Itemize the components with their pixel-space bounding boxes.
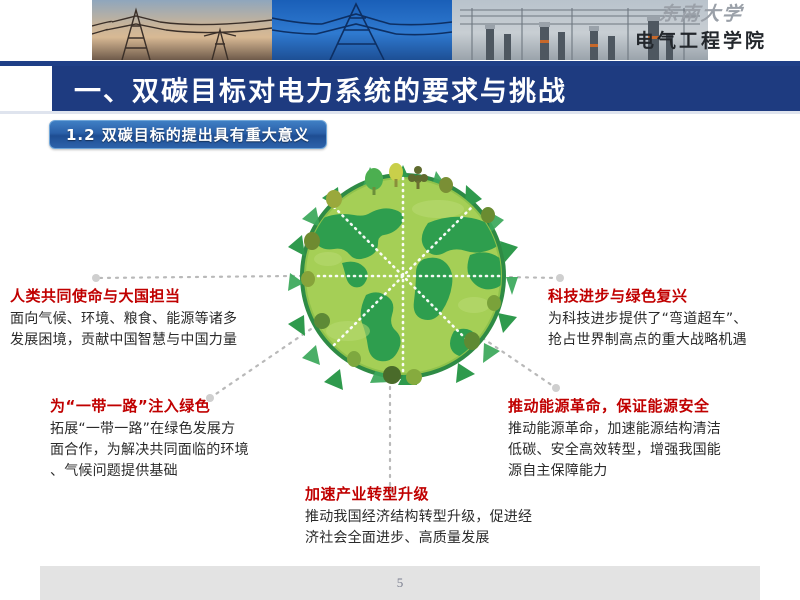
title-bottom-rule: [0, 111, 800, 114]
university-calligraphy-name: 东南大学: [615, 2, 788, 28]
callout-body: 面向气候、环境、粮食、能源等诸多 发展困境，贡献中国智慧与中国力量: [10, 309, 237, 351]
callout-line: 面合作，为解决共同面临的环境: [50, 440, 249, 461]
callout-heading: 科技进步与绿色复兴: [548, 286, 748, 307]
callout-line: 抢占世界制高点的重大战略机遇: [548, 330, 748, 351]
subsection-label: 1.2 双碳目标的提出具有重大意义: [66, 124, 310, 145]
callout-mission: 人类共同使命与大国担当 面向气候、环境、粮食、能源等诸多 发展困境，贡献中国智慧…: [10, 286, 237, 351]
slide: 东南大学 电气工程学院 一、双碳目标对电力系统的要求与挑战 1.2 双碳目标的提…: [0, 0, 800, 600]
callout-line: 为科技进步提供了“弯道超车”、: [548, 309, 748, 330]
callout-line: 面向气候、环境、粮食、能源等诸多: [10, 309, 237, 330]
callout-line: 低碳、安全高效转型，增强我国能: [508, 440, 721, 461]
page-number: 5: [40, 566, 760, 600]
callout-line: 源自主保障能力: [508, 461, 721, 482]
callout-body: 为科技进步提供了“弯道超车”、 抢占世界制高点的重大战略机遇: [548, 309, 748, 351]
callout-industry-upgrade: 加速产业转型升级 推动我国经济结构转型升级，促进经 济社会全面进步、高质量发展: [305, 484, 532, 549]
callout-line: 推动我国经济结构转型升级，促进经: [305, 507, 532, 528]
school-name: 电气工程学院: [616, 29, 786, 53]
callout-heading: 为“一带一路”注入绿色: [50, 396, 249, 417]
callout-energy-revolution: 推动能源革命，保证能源安全 推动能源革命，加速能源结构清洁 低碳、安全高效转型，…: [508, 396, 721, 482]
photo-transmission-tower-sunset: [92, 0, 272, 60]
callout-line: 、气候问题提供基础: [50, 461, 249, 482]
callout-heading: 加速产业转型升级: [305, 484, 532, 505]
callout-body: 推动我国经济结构转型升级，促进经 济社会全面进步、高质量发展: [305, 507, 532, 549]
page-title: 一、双碳目标对电力系统的要求与挑战: [74, 69, 567, 108]
callout-technology: 科技进步与绿色复兴 为科技进步提供了“弯道超车”、 抢占世界制高点的重大战略机遇: [548, 286, 748, 351]
callout-line: 济社会全面进步、高质量发展: [305, 528, 532, 549]
green-earth-globe: [288, 163, 518, 395]
callout-body: 推动能源革命，加速能源结构清洁 低碳、安全高效转型，增强我国能 源自主保障能力: [508, 419, 721, 482]
section-title-bar: 一、双碳目标对电力系统的要求与挑战: [52, 66, 800, 111]
callout-line: 推动能源革命，加速能源结构清洁: [508, 419, 721, 440]
callout-heading: 人类共同使命与大国担当: [10, 286, 237, 307]
footer-bar: 5: [40, 566, 760, 600]
photo-transmission-tower-blue-sky: [272, 0, 452, 60]
callout-heading: 推动能源革命，保证能源安全: [508, 396, 721, 417]
callout-body: 拓展“一带一路”在绿色发展方 面合作，为解决共同面临的环境 、气候问题提供基础: [50, 419, 249, 482]
callout-line: 发展困境，贡献中国智慧与中国力量: [10, 330, 237, 351]
university-logo: 东南大学 电气工程学院: [616, 2, 786, 53]
subsection-badge: 1.2 双碳目标的提出具有重大意义: [49, 120, 327, 149]
callout-belt-and-road: 为“一带一路”注入绿色 拓展“一带一路”在绿色发展方 面合作，为解决共同面临的环…: [50, 396, 249, 482]
callout-line: 拓展“一带一路”在绿色发展方: [50, 419, 249, 440]
